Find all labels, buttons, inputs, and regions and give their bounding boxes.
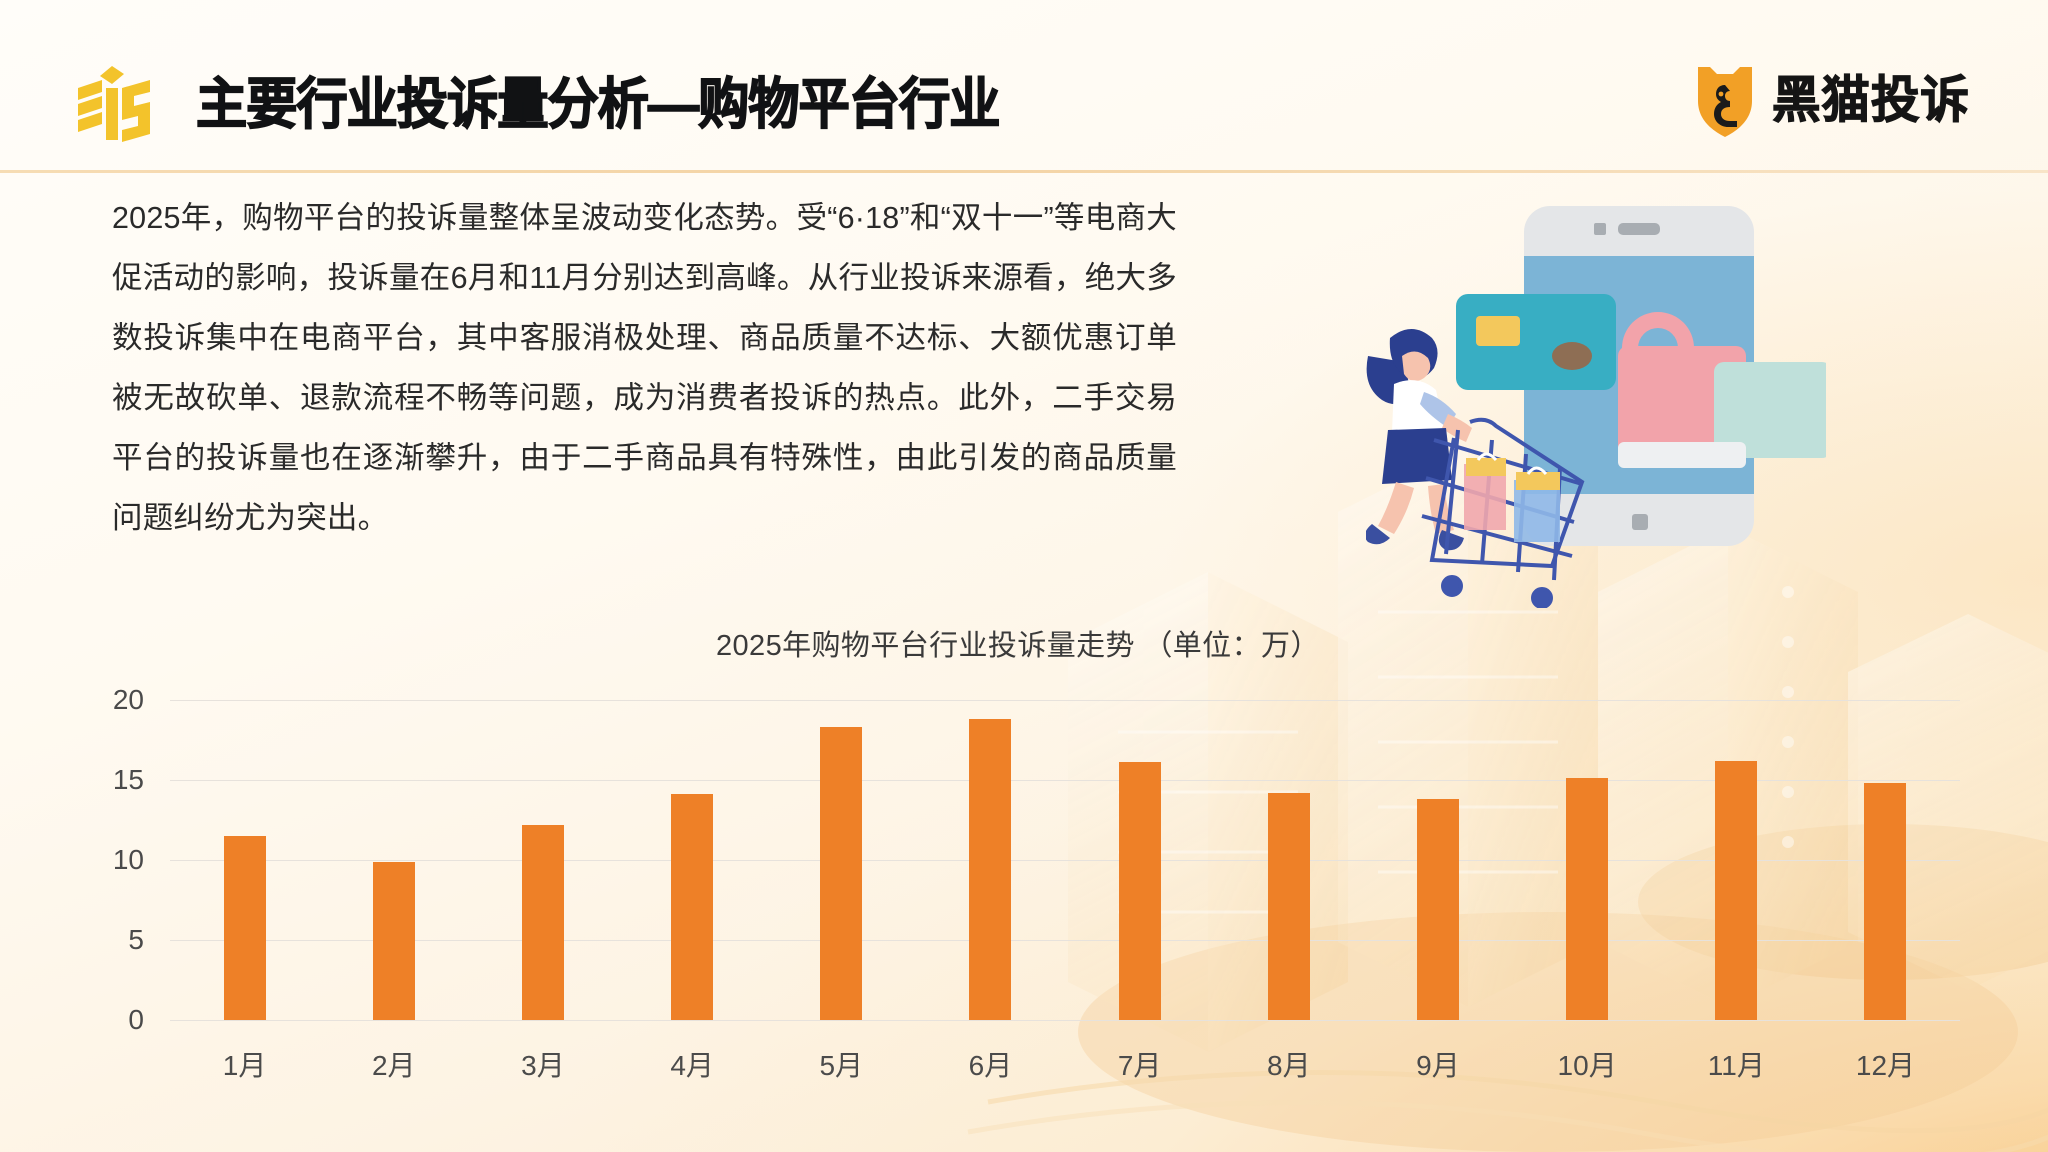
bar-slot [1363,700,1512,1020]
x-axis-label: 2月 [319,1044,468,1084]
chart-bar[interactable] [969,719,1011,1020]
brand-name: 黑猫投诉 [1772,63,1970,137]
chart-bar[interactable] [1119,762,1161,1020]
chart-bar[interactable] [671,794,713,1020]
gridline [170,1020,1960,1021]
315-logo-icon [72,62,156,144]
bar-slot [170,700,319,1020]
chart-title: 2025年购物平台行业投诉量走势 （单位：万） [716,622,1320,664]
y-axis-tick: 0 [128,1004,144,1036]
black-cat-shield-icon [1694,63,1756,137]
chart-bar[interactable] [1268,793,1310,1020]
x-axis-label: 12月 [1811,1044,1960,1084]
bar-slot [767,700,916,1020]
y-axis-tick: 20 [113,684,144,716]
chart-bar[interactable] [224,836,266,1020]
chart-bar[interactable] [1566,778,1608,1020]
bar-slot [618,700,767,1020]
y-axis-tick: 10 [113,844,144,876]
slide-page: 主要行业投诉量分析—购物平台行业 黑猫投诉 2025年，购物平台的投诉量整体呈波… [0,0,2048,1152]
online-shopping-security-illustration [1366,168,1826,608]
chart-bar[interactable] [1715,761,1757,1020]
chart-bar[interactable] [1417,799,1459,1020]
x-axis-label: 9月 [1363,1044,1512,1084]
x-axis-label: 10月 [1513,1044,1662,1084]
chart-plot-area: 05101520 [170,700,1960,1020]
bar-slot [1214,700,1363,1020]
bar-slot [916,700,1065,1020]
y-axis-tick: 15 [113,764,144,796]
x-axis-label: 6月 [916,1044,1065,1084]
x-axis-label: 7月 [1065,1044,1214,1084]
x-axis-label: 8月 [1214,1044,1363,1084]
chart-bar[interactable] [373,862,415,1020]
chart-bar[interactable] [820,727,862,1020]
complaint-trend-chart: 2025年购物平台行业投诉量走势 （单位：万） 05101520 1月2月3月4… [0,612,2048,1152]
x-axis-label: 11月 [1662,1044,1811,1084]
x-axis-label: 3月 [468,1044,617,1084]
y-axis-tick: 5 [128,924,144,956]
intro-paragraph: 2025年，购物平台的投诉量整体呈波动变化态势。受“6·18”和“双十一”等电商… [112,188,1177,548]
bar-slot [1513,700,1662,1020]
page-title: 主要行业投诉量分析—购物平台行业 [196,66,1000,142]
page-header: 主要行业投诉量分析—购物平台行业 黑猫投诉 [0,0,2048,173]
chart-bars [170,700,1960,1020]
x-axis-label: 1月 [170,1044,319,1084]
x-axis-label: 5月 [767,1044,916,1084]
brand-logo: 黑猫投诉 [1694,62,1976,138]
chart-bar[interactable] [1864,783,1906,1020]
bar-slot [1811,700,1960,1020]
bar-slot [319,700,468,1020]
bar-slot [1662,700,1811,1020]
chart-bar[interactable] [522,825,564,1020]
x-axis-label: 4月 [618,1044,767,1084]
bar-slot [1065,700,1214,1020]
chart-x-axis-labels: 1月2月3月4月5月6月7月8月9月10月11月12月 [170,1044,1960,1084]
bar-slot [468,700,617,1020]
